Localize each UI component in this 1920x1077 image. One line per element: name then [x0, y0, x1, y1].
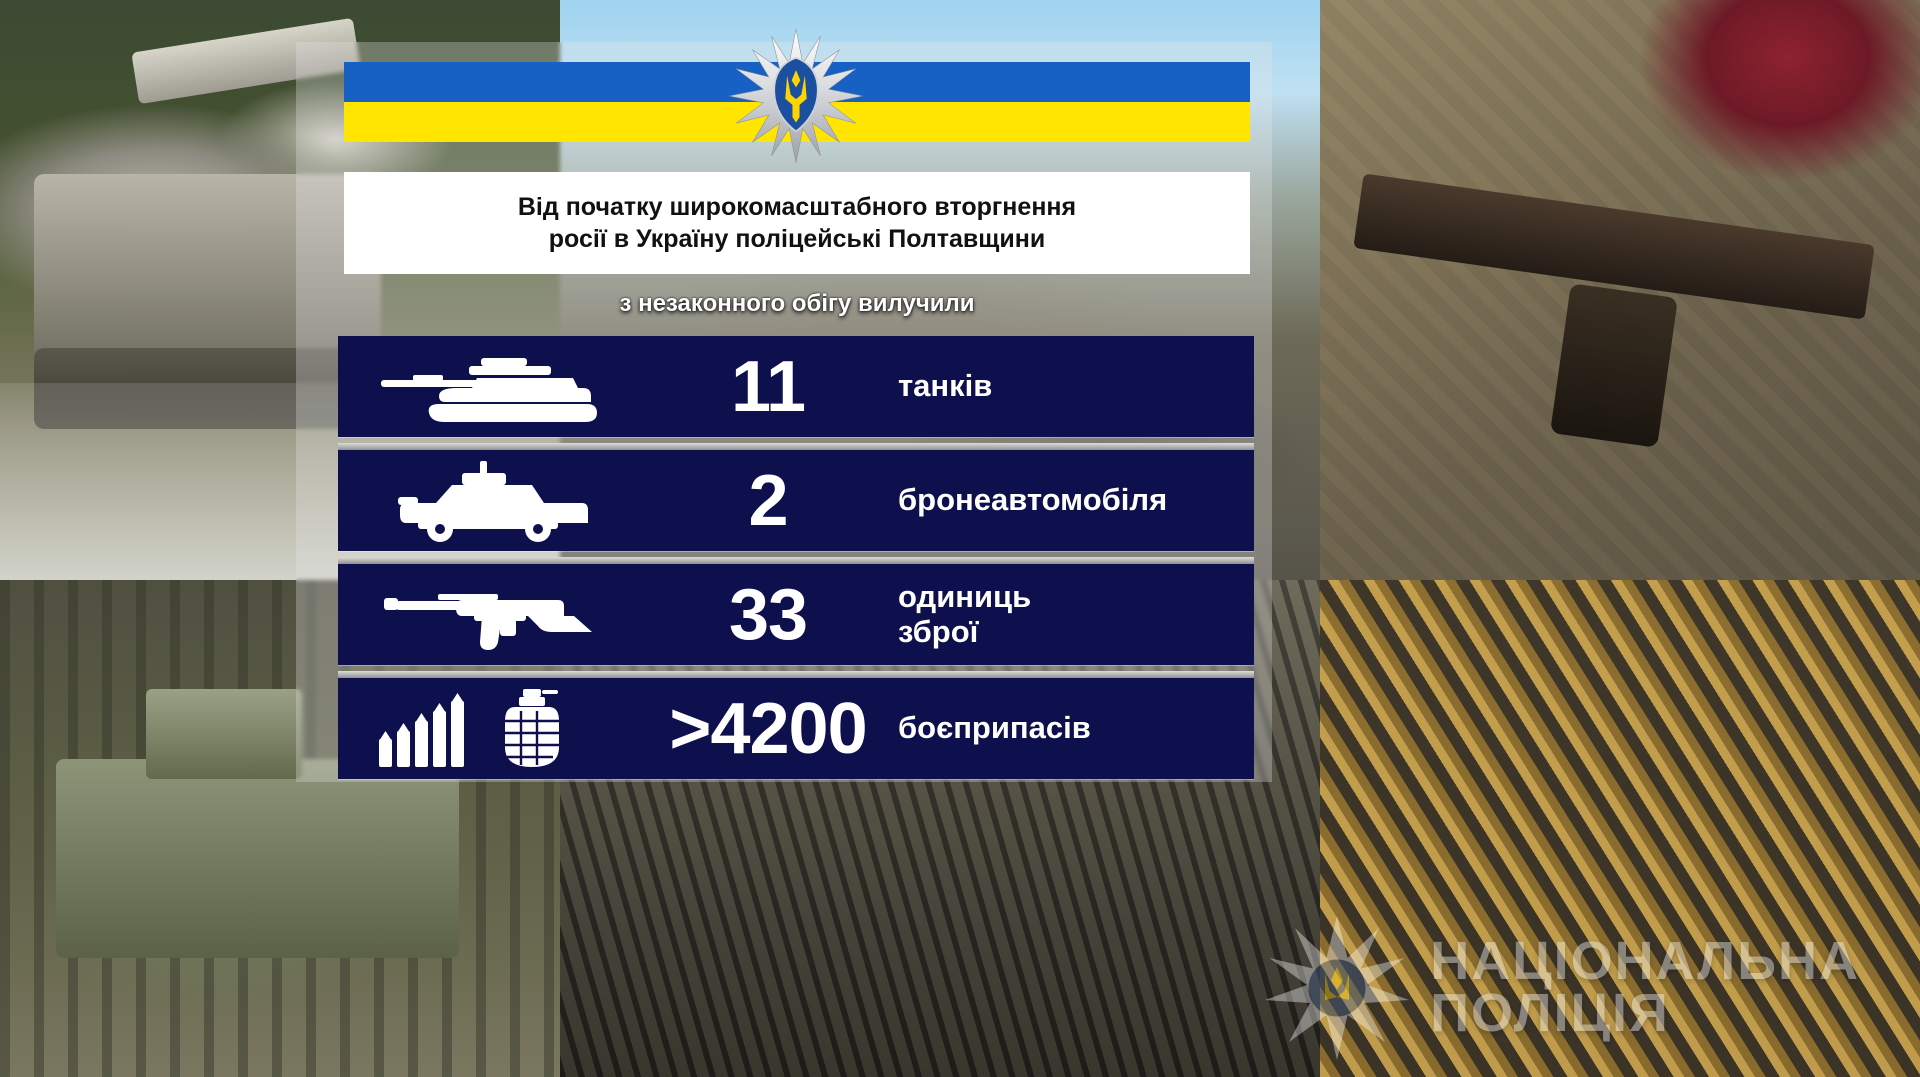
row-separator-2: [338, 557, 1254, 564]
stat-value-armored-vehicles: 2: [638, 465, 898, 537]
ammo-belt-texture: [1320, 580, 1920, 1077]
statistics-list: 11 танків 2 бронеавтомобіля: [338, 336, 1254, 785]
subtitle: з незаконного обігу вилучили: [344, 282, 1250, 326]
stat-row-firearms: 33 одиниць зброї: [338, 564, 1254, 665]
stat-label-firearms-line2: зброї: [898, 615, 1232, 649]
rifle-magazine-shape: [1550, 283, 1678, 447]
stat-value-firearms: 33: [638, 579, 898, 651]
subtitle-text: з незаконного обігу вилучили: [619, 290, 974, 318]
stat-label-firearms-line1: одиниць: [898, 580, 1232, 614]
photo-ammunition-belts: [1320, 580, 1920, 1077]
headline-box: Від початку широкомасштабного вторгнення…: [344, 172, 1250, 274]
rifle-body-shape: [1353, 173, 1874, 319]
apc-hull-shape: [56, 759, 459, 958]
stat-row-armored-vehicles: 2 бронеавтомобіля: [338, 450, 1254, 551]
stat-label-tanks: танків: [898, 369, 1254, 403]
armored-vehicle-icon: [338, 459, 638, 543]
photo-rifle-on-bed: [1320, 0, 1920, 580]
stat-label-ammunition: боєприпасів: [898, 711, 1254, 745]
row-separator-1: [338, 443, 1254, 450]
bed-cloth-shape: [1320, 0, 1920, 580]
assault-rifle-icon: [338, 576, 638, 654]
ukrainian-national-police-star-emblem: [728, 28, 864, 164]
ammunition-grenade-icon: [338, 687, 638, 771]
row-separator-3: [338, 671, 1254, 678]
stat-row-ammunition: >4200 боєприпасів: [338, 678, 1254, 779]
headline-line-1: Від початку широкомасштабного вторгнення: [518, 191, 1076, 223]
stat-row-tanks: 11 танків: [338, 336, 1254, 437]
headline-line-2: росії в Україну поліцейські Полтавщини: [518, 223, 1076, 255]
apc-turret-shape: [146, 689, 303, 778]
stat-label-firearms: одиниць зброї: [898, 580, 1254, 648]
tank-icon: [338, 348, 638, 426]
stat-label-armored-vehicles: бронеавтомобіля: [898, 483, 1254, 517]
stat-value-tanks: 11: [638, 351, 898, 423]
stat-value-ammunition: >4200: [638, 693, 898, 765]
